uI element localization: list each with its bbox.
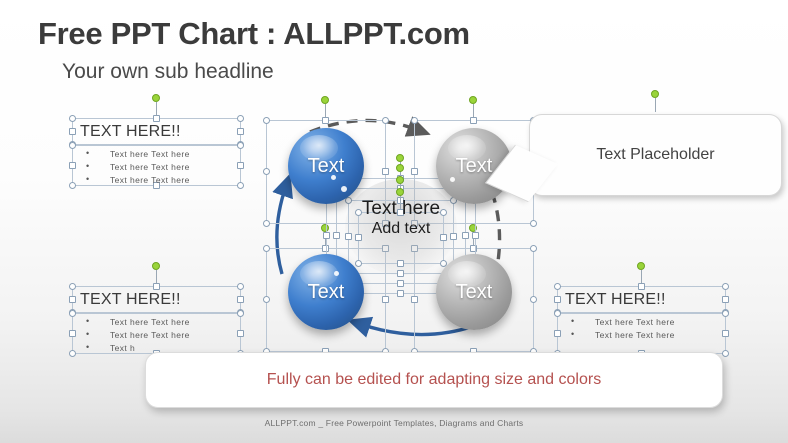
rotation-handle[interactable] bbox=[156, 270, 157, 284]
slide-canvas: Free PPT Chart : ALLPPT.com Your own sub… bbox=[0, 0, 788, 443]
resize-handle-tr[interactable] bbox=[530, 245, 537, 252]
rotation-handle[interactable] bbox=[641, 270, 642, 284]
list-item: Text here Text here bbox=[569, 316, 726, 329]
text-box-bullets: Text here Text here Text here Text here … bbox=[72, 313, 241, 354]
resize-handle-mr[interactable] bbox=[382, 296, 389, 303]
list-item: Text here Text here bbox=[84, 161, 241, 174]
cycle-node-label: Text bbox=[308, 155, 345, 178]
rotation-handle[interactable] bbox=[325, 104, 326, 118]
page-subtitle: Your own sub headline bbox=[62, 60, 274, 84]
resize-handle-tc[interactable] bbox=[470, 117, 477, 124]
text-box-bullets: Text here Text here Text here Text here … bbox=[72, 145, 241, 186]
cycle-node-label: Text bbox=[308, 281, 345, 304]
resize-handle-tl[interactable] bbox=[263, 245, 270, 252]
sphere-speck bbox=[450, 177, 455, 182]
resize-handle-bl[interactable] bbox=[355, 260, 362, 267]
resize-handle-ml[interactable] bbox=[263, 296, 270, 303]
sphere-speck bbox=[341, 186, 347, 192]
resize-handle-ml[interactable] bbox=[411, 296, 418, 303]
resize-handle-mr[interactable] bbox=[382, 168, 389, 175]
sphere-speck bbox=[334, 271, 339, 276]
slide-footer: ALLPPT.com _ Free Powerpoint Templates, … bbox=[0, 418, 788, 428]
cycle-node-label: Text bbox=[456, 281, 493, 304]
center-text-line-1: Text here bbox=[306, 197, 496, 220]
center-text: Text here Add text bbox=[306, 197, 496, 238]
cycle-node-top-left[interactable]: Text bbox=[288, 128, 364, 204]
list-item: Text here Text here bbox=[84, 329, 241, 342]
resize-handle-ml[interactable] bbox=[411, 168, 418, 175]
list-item: Text here Text here bbox=[84, 148, 241, 161]
resize-handle-bc[interactable] bbox=[397, 260, 404, 267]
resize-handle-bl[interactable] bbox=[263, 220, 270, 227]
cycle-node-bottom-left[interactable]: Text bbox=[288, 254, 364, 330]
list-item: Text here Text here bbox=[569, 329, 726, 342]
text-placeholder-callout[interactable]: Text Placeholder bbox=[529, 114, 782, 196]
cycle-node-bottom-right[interactable]: Text bbox=[436, 254, 512, 330]
sphere-speck bbox=[331, 175, 336, 180]
resize-handle-bc[interactable] bbox=[397, 280, 404, 287]
cycle-node-label: Text bbox=[456, 155, 493, 178]
cycle-diagram[interactable]: Text Text Text Text Text here Add text bbox=[268, 104, 534, 350]
text-box-heading: TEXT HERE!! bbox=[72, 286, 241, 313]
rotation-handle[interactable] bbox=[655, 98, 656, 112]
text-box-heading: TEXT HERE!! bbox=[557, 286, 726, 313]
text-box-top-left[interactable]: TEXT HERE!! Text here Text here Text her… bbox=[72, 118, 241, 186]
resize-handle-tr[interactable] bbox=[382, 117, 389, 124]
text-box-bottom-left[interactable]: TEXT HERE!! Text here Text here Text her… bbox=[72, 286, 241, 354]
edit-notice-text: Fully can be edited for adapting size an… bbox=[267, 371, 601, 389]
resize-handle-tl[interactable] bbox=[263, 117, 270, 124]
resize-handle-mr[interactable] bbox=[530, 296, 537, 303]
list-item: Text here Text here bbox=[84, 174, 241, 187]
callout-label: Text Placeholder bbox=[596, 146, 714, 164]
resize-handle-tc[interactable] bbox=[322, 117, 329, 124]
resize-handle-bc[interactable] bbox=[397, 290, 404, 297]
resize-handle-ml[interactable] bbox=[263, 168, 270, 175]
resize-handle-bc[interactable] bbox=[397, 270, 404, 277]
edit-notice-banner: Fully can be edited for adapting size an… bbox=[145, 352, 723, 408]
text-box-bottom-right[interactable]: TEXT HERE!! Text here Text here Text her… bbox=[557, 286, 726, 354]
text-box-heading: TEXT HERE!! bbox=[72, 118, 241, 145]
rotation-handle[interactable] bbox=[156, 102, 157, 116]
center-text-line-2: Add text bbox=[306, 219, 496, 238]
resize-handle-br[interactable] bbox=[530, 220, 537, 227]
page-title: Free PPT Chart : ALLPPT.com bbox=[38, 16, 470, 52]
list-item: Text here Text here bbox=[84, 316, 241, 329]
text-box-bullets: Text here Text here Text here Text here bbox=[557, 313, 726, 354]
rotation-handle[interactable] bbox=[473, 104, 474, 118]
resize-handle-tl[interactable] bbox=[411, 117, 418, 124]
